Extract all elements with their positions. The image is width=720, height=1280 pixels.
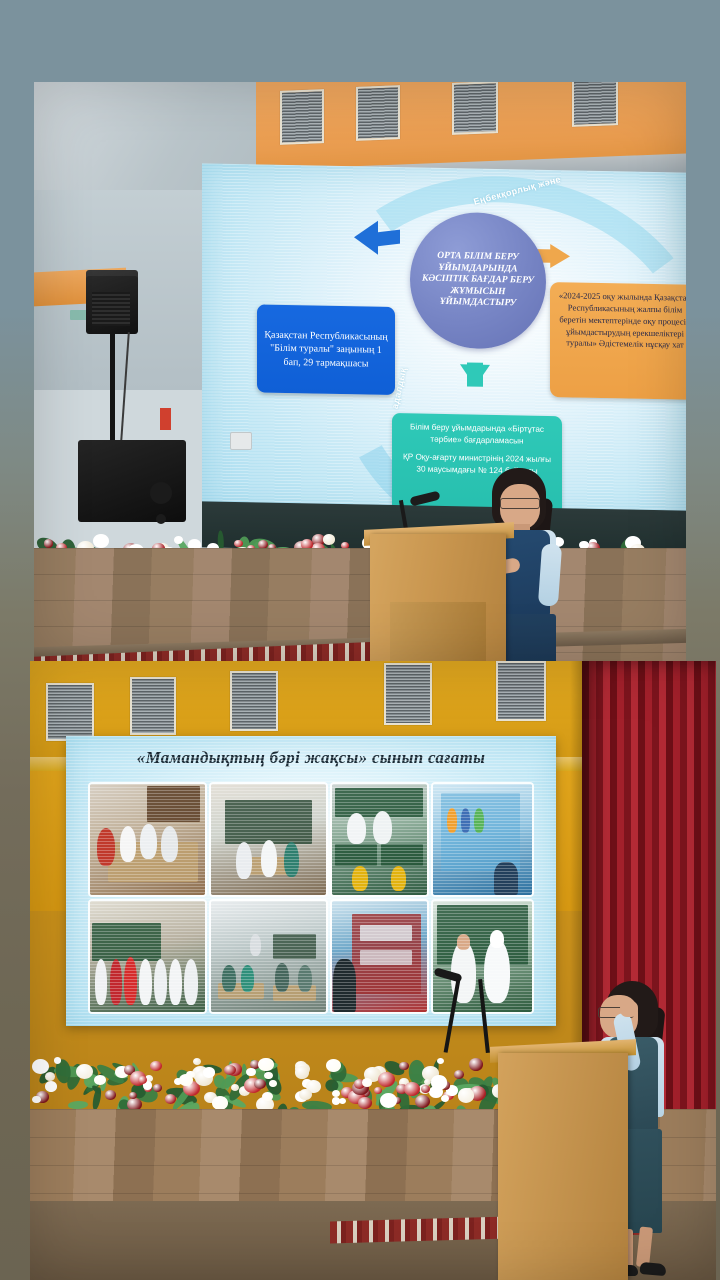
ventilation-grille-icon: [356, 85, 400, 141]
hand: [620, 1001, 638, 1017]
top-photo: Еңбекқорлық және адалдық ОРТА БІЛІМ БЕРУ…: [34, 82, 686, 662]
collage-cell: [90, 901, 205, 1012]
ventilation-grille-icon: [496, 661, 546, 721]
collage-cell: [332, 784, 427, 895]
loudspeaker-upper: [86, 270, 138, 334]
power-socket-icon: [230, 432, 252, 450]
arm: [538, 543, 562, 606]
slide-center-circle: ОРТА БІЛІМ БЕРУ ҰЙЫМДАРЫНДА КӘСІПТІК БАҒ…: [410, 211, 546, 350]
screenshot-canvas: Еңбекқорлық және адалдық ОРТА БІЛІМ БЕРУ…: [0, 0, 720, 1280]
loudspeaker-lower: [78, 440, 186, 522]
slide-title: «Мамандықтың бәрі жақсы» сынып сағаты: [66, 748, 556, 768]
skirt: [504, 614, 556, 662]
collage-cell: [433, 784, 532, 895]
wall-alarm-icon: [160, 408, 171, 430]
slide-orange-box: «2024-2025 оқу жылында Қазақстан Республ…: [550, 282, 686, 400]
ventilation-grille-icon: [452, 82, 498, 135]
bottom-photo: «Мамандықтың бәрі жақсы» сынып сағаты: [30, 661, 716, 1280]
speaker-stand: [110, 332, 115, 440]
collage-cell: [332, 901, 427, 1012]
collage-cell: [211, 901, 326, 1012]
glasses-icon: [500, 498, 540, 509]
slide-blue-box: Қазақстан Республикасының "Білім туралы"…: [257, 304, 395, 395]
teal-arrow-icon: [460, 364, 490, 387]
ventilation-grille-icon: [46, 683, 94, 741]
projection-screen-top: Еңбекқорлық және адалдық ОРТА БІЛІМ БЕРУ…: [202, 163, 686, 522]
ventilation-grille-icon: [280, 89, 324, 145]
ventilation-grille-icon: [130, 677, 176, 735]
speaker-brand-icon: [118, 294, 129, 312]
photo-collage: [90, 784, 532, 1012]
shoe: [640, 1262, 667, 1276]
collage-cell: [90, 784, 205, 895]
wooden-podium: [498, 1053, 628, 1280]
ventilation-grille-icon: [572, 82, 618, 127]
ventilation-grille-icon: [384, 663, 432, 725]
teal-box-line-1: Білім беру ұйымдарында «Біртұтас тәрбие»…: [401, 421, 553, 448]
podium-base: [390, 602, 486, 662]
ventilation-grille-icon: [230, 671, 278, 731]
collage-cell: [211, 784, 326, 895]
blue-arrow-icon: [354, 220, 378, 254]
